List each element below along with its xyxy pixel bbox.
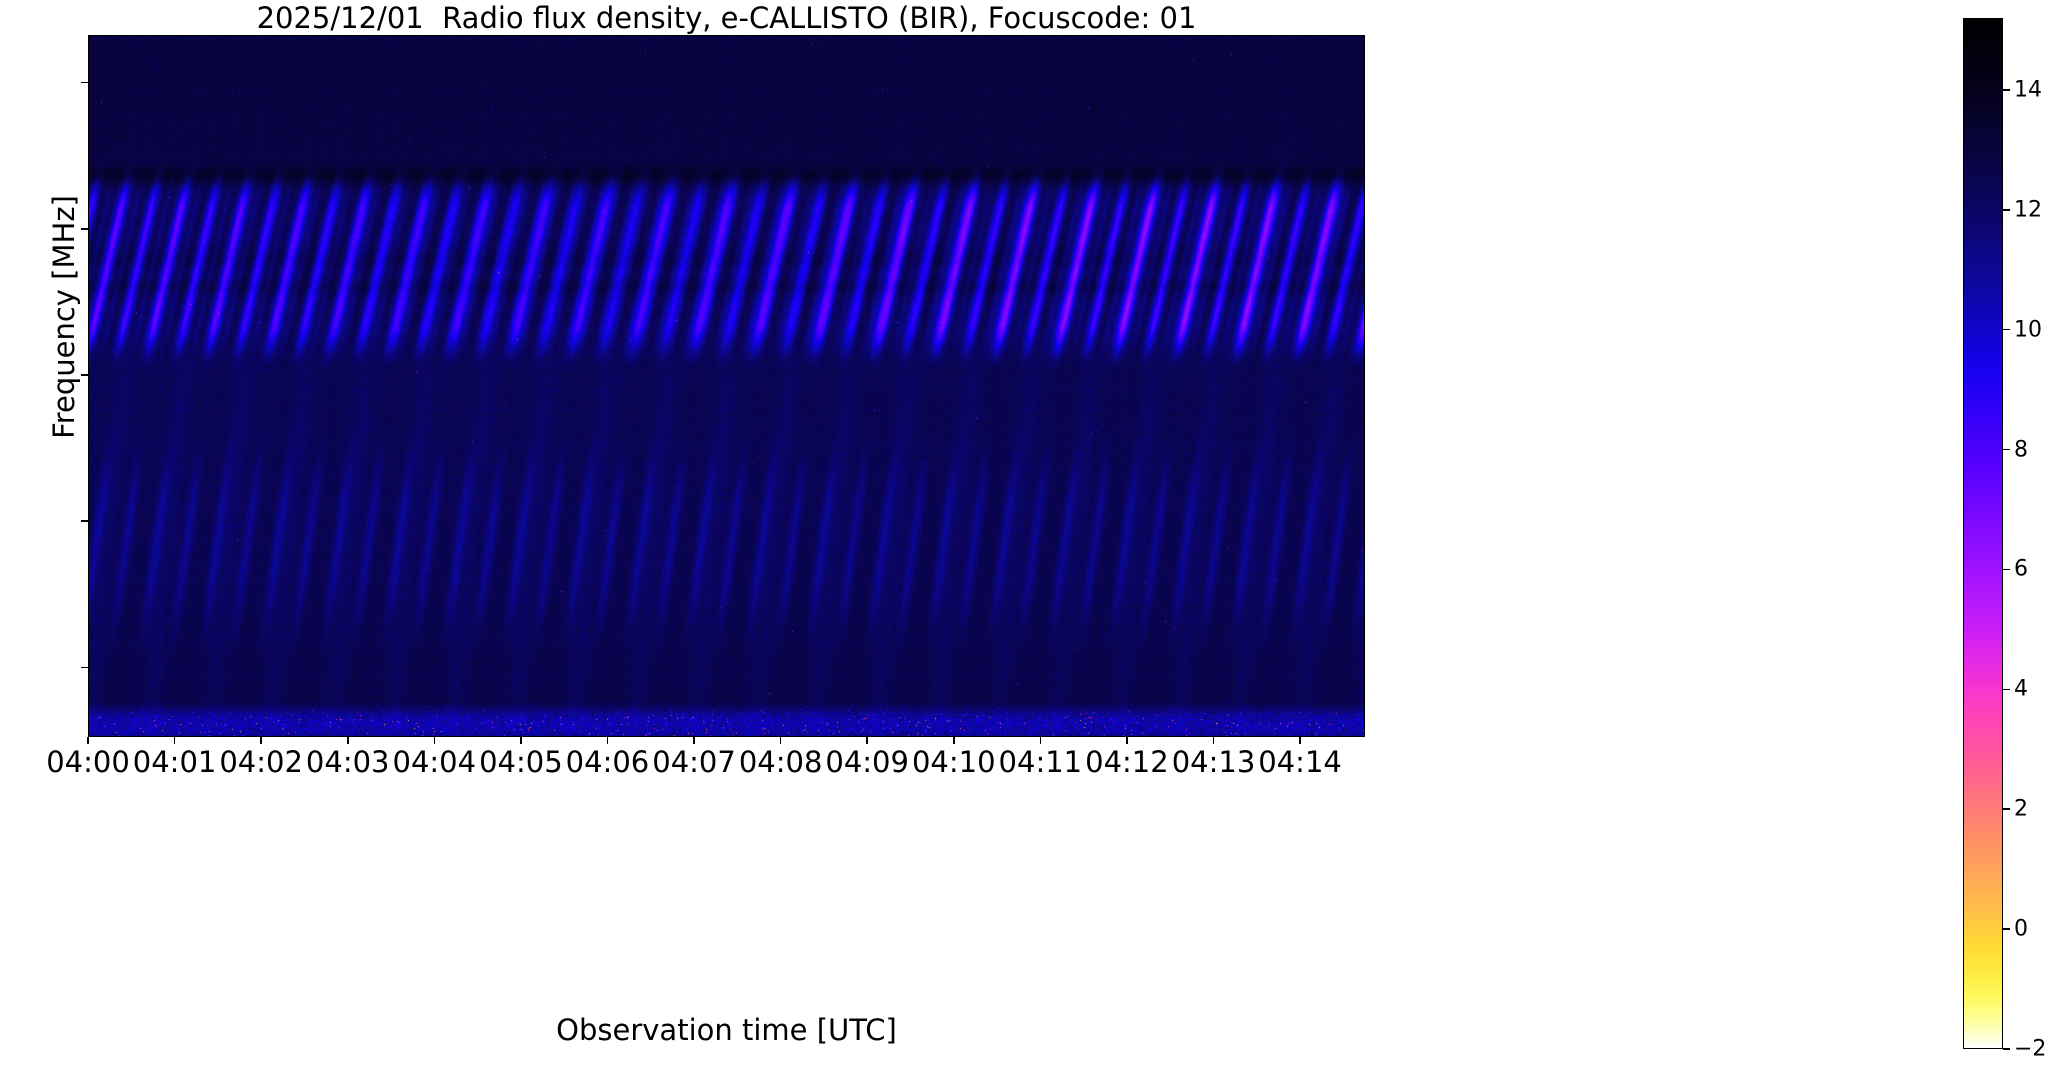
colorbar-tick-mark — [2003, 209, 2010, 211]
x-tick-label: 04:06 — [566, 745, 650, 779]
x-tick-label: 04:11 — [999, 745, 1083, 779]
x-axis-label: Observation time [UTC] — [88, 1013, 1365, 1047]
y-tick-mark — [81, 82, 88, 84]
x-tick-mark — [1040, 737, 1042, 744]
x-tick-label: 04:04 — [393, 745, 477, 779]
x-tick-mark — [347, 737, 349, 744]
colorbar-tick-label: 2 — [2014, 797, 2028, 822]
x-tick-mark — [693, 737, 695, 744]
y-tick-mark — [81, 667, 88, 669]
y-tick-mark — [81, 228, 88, 230]
colorbar-tick-mark — [2003, 689, 2010, 691]
colorbar-tick-mark — [2003, 569, 2010, 571]
x-tick-label: 04:10 — [912, 745, 996, 779]
colorbar-tick-label: 10 — [2014, 317, 2042, 342]
spectrogram-image[interactable] — [89, 36, 1365, 737]
colorbar-tick-mark — [2003, 928, 2010, 930]
x-tick-mark — [953, 737, 955, 744]
colorbar[interactable] — [1963, 18, 2003, 1049]
x-tick-label: 04:02 — [219, 745, 303, 779]
colorbar-tick-mark — [2003, 1048, 2010, 1050]
colorbar-gradient — [1964, 19, 2002, 1048]
x-tick-mark — [1213, 737, 1215, 744]
spectrogram-plot-area[interactable] — [88, 35, 1365, 737]
colorbar-tick-label: 8 — [2014, 437, 2028, 462]
x-tick-label: 04:00 — [46, 745, 130, 779]
x-tick-label: 04:07 — [652, 745, 736, 779]
x-tick-label: 04:03 — [306, 745, 390, 779]
page-title: 2025/12/01 Radio flux density, e-CALLIST… — [88, 2, 1365, 34]
colorbar-tick-label: 12 — [2014, 197, 2042, 222]
x-tick-mark — [174, 737, 176, 744]
x-tick-mark — [87, 737, 89, 744]
y-tick-mark — [81, 374, 88, 376]
colorbar-tick-mark — [2003, 449, 2010, 451]
x-tick-mark — [1299, 737, 1301, 744]
x-tick-mark — [607, 737, 609, 744]
colorbar-tick-label: 0 — [2014, 917, 2028, 942]
x-tick-label: 04:13 — [1172, 745, 1256, 779]
y-axis-label: Frequency [MHz] — [47, 0, 81, 668]
x-tick-mark — [520, 737, 522, 744]
x-tick-label: 04:12 — [1085, 745, 1169, 779]
spectrogram-figure: 2025/12/01 Radio flux density, e-CALLIST… — [0, 0, 2066, 1067]
x-tick-mark — [1126, 737, 1128, 744]
x-tick-mark — [866, 737, 868, 744]
colorbar-tick-mark — [2003, 329, 2010, 331]
x-tick-label: 04:08 — [739, 745, 823, 779]
x-tick-mark — [434, 737, 436, 744]
colorbar-tick-label: 6 — [2014, 557, 2028, 582]
x-tick-label: 04:05 — [479, 745, 563, 779]
x-tick-mark — [260, 737, 262, 744]
colorbar-tick-mark — [2003, 89, 2010, 91]
x-tick-label: 04:14 — [1258, 745, 1342, 779]
x-tick-label: 04:09 — [825, 745, 909, 779]
colorbar-tick-label: −2 — [2014, 1037, 2046, 1062]
colorbar-tick-mark — [2003, 808, 2010, 810]
x-tick-label: 04:01 — [133, 745, 217, 779]
y-tick-mark — [81, 520, 88, 522]
colorbar-tick-label: 14 — [2014, 77, 2042, 102]
x-tick-mark — [780, 737, 782, 744]
colorbar-tick-label: 4 — [2014, 677, 2028, 702]
